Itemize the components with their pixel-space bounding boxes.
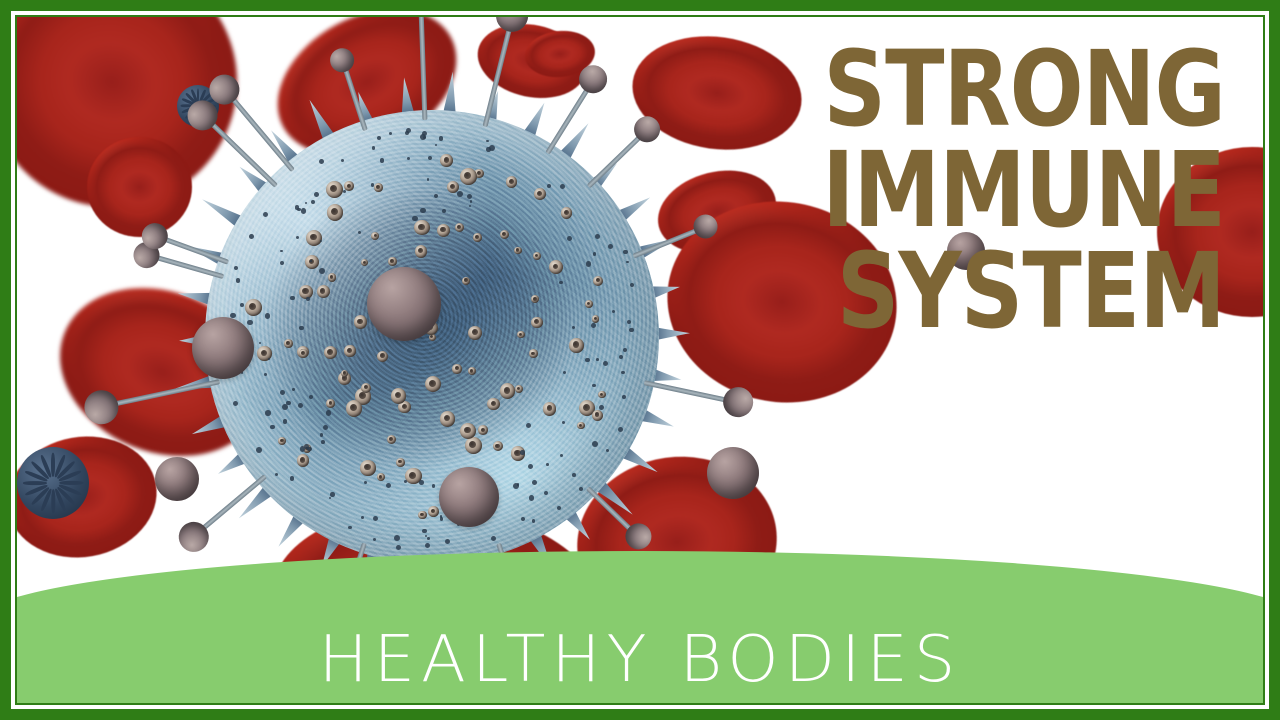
surface-receptor — [577, 422, 584, 429]
surface-speck — [629, 328, 634, 333]
surface-speck — [427, 537, 430, 540]
surface-speck — [596, 358, 599, 361]
thumbnail-canvas: STRONG IMMUNE SYSTEM HEALTHY BODIES — [0, 0, 1280, 720]
surface-speck — [420, 208, 425, 213]
surface-receptor — [531, 317, 543, 329]
free-floating-knob — [155, 457, 199, 501]
surface-speck — [386, 483, 391, 488]
surface-speck — [520, 450, 525, 455]
surface-speck — [265, 410, 271, 416]
surface-speck — [321, 440, 325, 444]
surface-receptor — [297, 454, 309, 466]
surface-speck — [373, 516, 378, 521]
surface-receptor — [592, 410, 603, 421]
surface-receptor — [592, 315, 599, 322]
surface-receptor — [428, 506, 439, 517]
surface-speck — [428, 156, 433, 161]
surface-receptor — [346, 400, 363, 417]
surface-speck — [622, 395, 626, 399]
surface-speck — [627, 320, 631, 324]
cell-membrane — [205, 110, 659, 564]
surface-receptor — [452, 364, 461, 373]
headline-block: STRONG IMMUNE SYSTEM — [665, 39, 1225, 342]
surface-receptor — [478, 425, 488, 435]
surface-receptor — [468, 326, 482, 340]
surface-speck — [240, 303, 244, 307]
surface-receptor — [585, 300, 593, 308]
surface-speck — [264, 373, 267, 376]
surface-receptor — [533, 252, 541, 260]
immune-cell — [167, 72, 697, 602]
surface-speck — [626, 261, 628, 263]
surface-speck — [434, 194, 438, 198]
surface-speck — [348, 526, 351, 529]
surface-speck — [489, 145, 495, 151]
cell-bud-left — [192, 317, 254, 379]
surface-speck — [372, 146, 375, 149]
surface-speck — [585, 358, 589, 362]
surface-speck — [341, 159, 344, 162]
surface-speck — [364, 481, 367, 484]
surface-speck — [467, 194, 472, 199]
surface-receptor — [245, 299, 262, 316]
surface-speck — [529, 495, 534, 500]
surface-speck — [280, 261, 284, 265]
surface-speck — [445, 539, 450, 544]
surface-speck — [301, 208, 307, 214]
surface-speck — [592, 441, 598, 447]
surface-receptor — [500, 383, 516, 399]
surface-receptor — [305, 255, 319, 269]
surface-receptor — [396, 458, 405, 467]
surface-speck — [407, 157, 410, 160]
surface-speck — [230, 313, 235, 318]
free-floating-knob — [707, 447, 759, 499]
surface-receptor — [515, 385, 523, 393]
headline-line-2: IMMUNE — [704, 140, 1225, 241]
surface-speck — [319, 268, 325, 274]
surface-receptor — [440, 411, 456, 427]
surface-receptor — [506, 176, 518, 188]
surface-speck — [623, 250, 627, 254]
surface-speck — [486, 140, 488, 142]
surface-receptor — [377, 351, 388, 362]
surface-speck — [314, 192, 319, 197]
surface-speck — [599, 405, 604, 410]
surface-receptor — [284, 339, 293, 348]
surface-receptor — [391, 388, 407, 404]
surface-speck — [618, 427, 623, 432]
surface-speck — [304, 444, 309, 449]
cell-large-bud — [367, 267, 441, 341]
surface-receptor — [418, 511, 426, 519]
surface-speck — [532, 480, 537, 485]
surface-speck — [292, 388, 294, 390]
surface-speck — [432, 484, 435, 487]
surface-speck — [319, 159, 324, 164]
banner-label: HEALTHY BODIES — [17, 623, 1263, 697]
surface-speck — [572, 473, 576, 477]
surface-receptor — [549, 260, 563, 274]
surface-receptor — [306, 230, 322, 246]
surface-receptor — [529, 349, 538, 358]
surface-receptor — [514, 247, 522, 255]
surface-speck — [440, 515, 442, 517]
surface-receptor — [460, 423, 476, 439]
surface-speck — [329, 497, 331, 499]
surface-speck — [412, 216, 418, 222]
surface-speck — [247, 320, 253, 326]
surface-speck — [270, 425, 275, 430]
surface-receptor — [437, 224, 450, 237]
surface-speck — [330, 492, 334, 496]
surface-speck — [619, 355, 623, 359]
surface-receptor — [361, 383, 371, 393]
surface-receptor — [465, 437, 482, 454]
surface-speck — [236, 278, 241, 283]
surface-receptor — [517, 331, 525, 339]
surface-speck — [579, 487, 583, 491]
surface-receptor — [455, 223, 464, 232]
surface-speck — [457, 191, 463, 197]
surface-speck — [560, 184, 565, 189]
surface-speck — [528, 464, 533, 469]
surface-speck — [299, 326, 303, 330]
surface-speck — [592, 384, 595, 387]
surface-receptor — [326, 181, 343, 198]
surface-speck — [233, 401, 238, 406]
surface-speck — [427, 178, 430, 181]
surface-speck — [521, 517, 525, 521]
surface-speck — [532, 519, 535, 522]
surface-receptor — [344, 345, 355, 356]
surface-receptor — [388, 257, 396, 265]
surface-speck — [323, 425, 328, 430]
cell-bud-lower — [439, 467, 499, 527]
surface-speck — [608, 244, 613, 249]
surface-receptor — [598, 391, 606, 399]
artwork-area: STRONG IMMUNE SYSTEM HEALTHY BODIES — [17, 17, 1263, 703]
surface-receptor — [414, 220, 430, 236]
surface-receptor — [473, 233, 482, 242]
surface-receptor — [561, 207, 572, 218]
bottom-banner: HEALTHY BODIES — [17, 551, 1263, 703]
surface-receptor — [440, 154, 453, 167]
surface-speck — [491, 536, 496, 541]
surface-speck — [380, 158, 384, 162]
surface-speck — [361, 516, 364, 519]
surface-receptor — [569, 338, 584, 353]
surface-receptor — [460, 168, 477, 185]
surface-speck — [286, 401, 290, 405]
surface-speck — [563, 371, 566, 374]
headline-line-3: SYSTEM — [704, 241, 1225, 342]
surface-speck — [623, 348, 627, 352]
surface-speck — [326, 410, 331, 415]
surface-speck — [419, 480, 424, 485]
surface-speck — [283, 419, 288, 424]
surface-receptor — [487, 398, 499, 410]
surface-speck — [586, 261, 592, 267]
surface-receptor — [468, 367, 476, 375]
surface-receptor — [415, 245, 427, 257]
surface-receptor — [543, 402, 556, 415]
surface-speck — [256, 447, 262, 453]
surface-speck — [422, 529, 427, 534]
surface-receptor — [374, 183, 383, 192]
surface-receptor — [328, 273, 337, 282]
surface-speck — [517, 483, 519, 485]
surface-speck — [320, 240, 322, 242]
surface-receptor — [317, 285, 330, 298]
surface-receptor — [387, 435, 396, 444]
surface-speck — [546, 463, 549, 466]
surface-speck — [394, 535, 400, 541]
surface-receptor — [360, 460, 375, 475]
surface-speck — [591, 323, 596, 328]
small-virus — [17, 447, 89, 519]
surface-receptor — [326, 399, 334, 407]
headline-line-1: STRONG — [704, 39, 1225, 140]
surface-speck — [389, 132, 392, 135]
surface-speck — [547, 184, 551, 188]
surface-speck — [470, 200, 473, 203]
